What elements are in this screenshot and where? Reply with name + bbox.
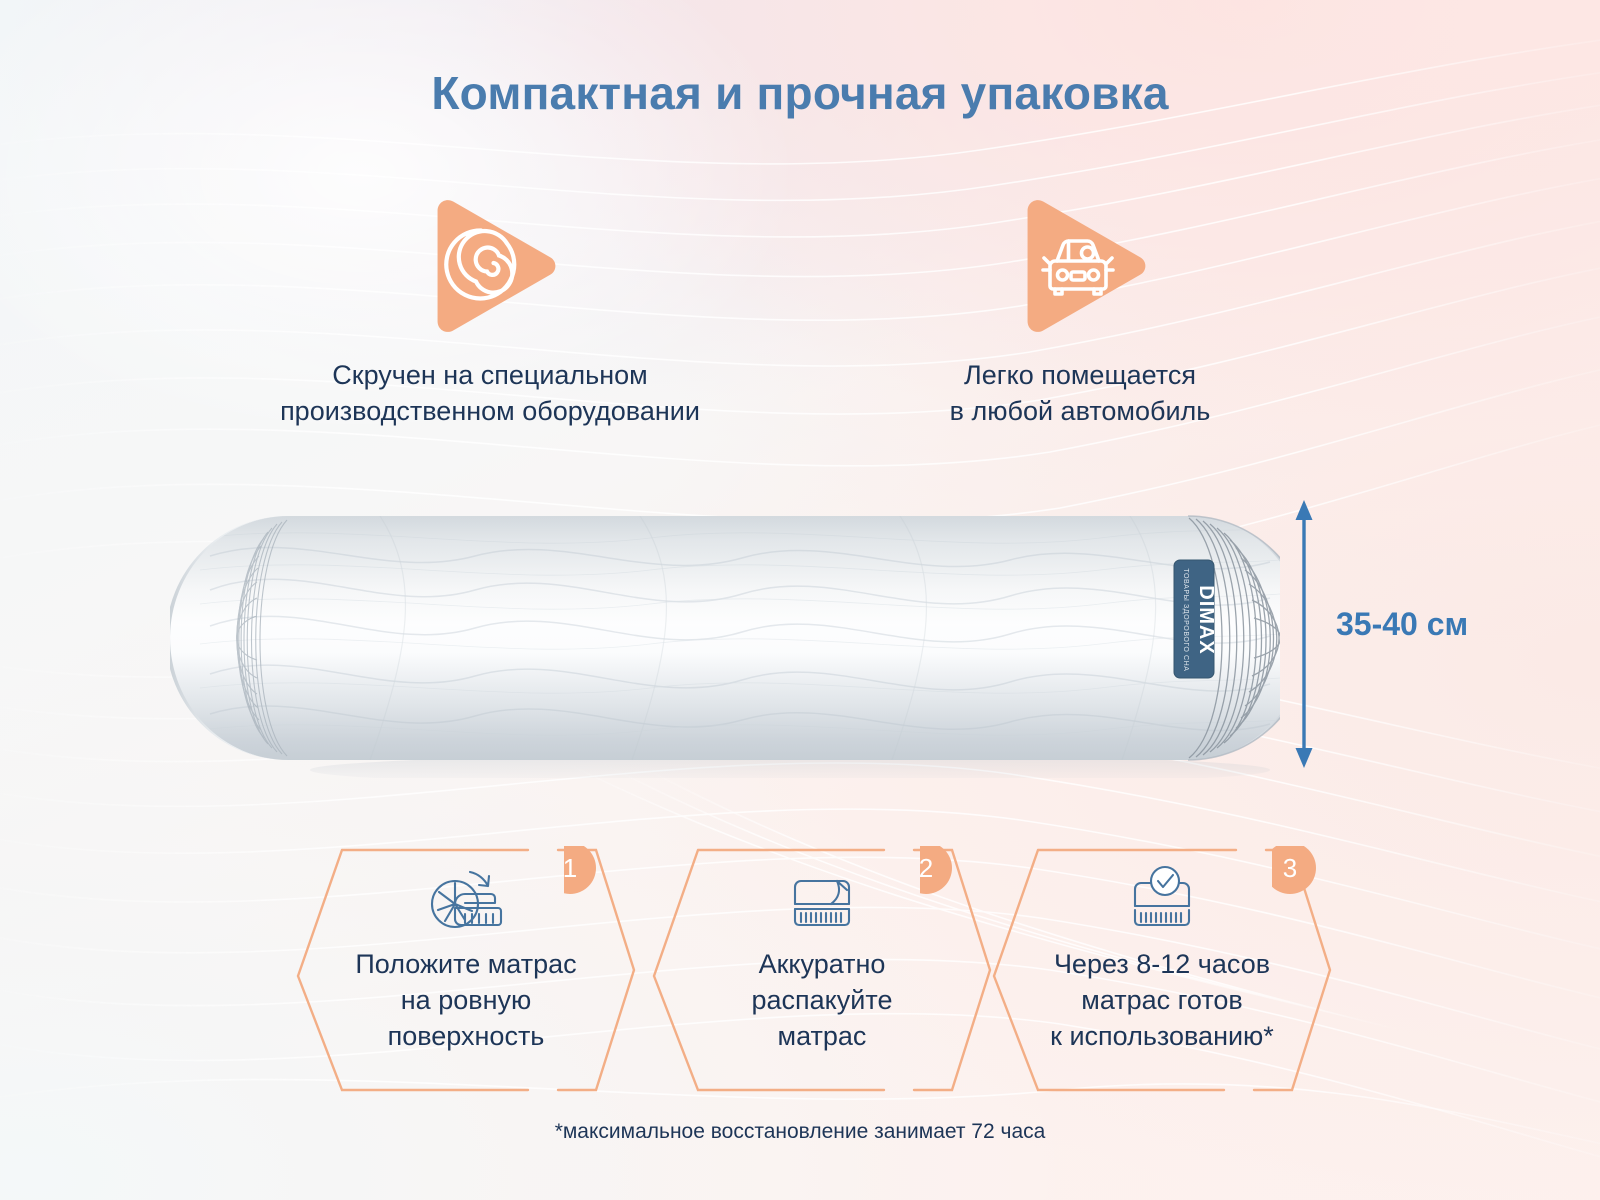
height-dimension: 35-40 см — [1288, 498, 1588, 770]
brand-tag-text: DIMAX — [1195, 585, 1217, 654]
page-title: Компактная и прочная упаковка — [0, 66, 1600, 120]
car-front-icon — [1005, 196, 1155, 336]
spiral-roll-icon — [415, 196, 565, 336]
feature-caption: Скручен на специальном производственном … — [205, 358, 775, 430]
step-3: 3 Через 8-12 часов матрас готов к исполь… — [992, 846, 1332, 1094]
brand-tag-subtext: ТОВАРЫ ЗДОРОВОГО СНА — [1182, 568, 1189, 671]
step-2: 2 Аккуратно распакуйте матрас — [652, 846, 992, 1094]
step-text: Через 8-12 часов матрас готов к использо… — [992, 946, 1332, 1055]
feature-fits-any-car: Легко помещается в любой автомобиль — [880, 196, 1280, 430]
mattress-check-icon — [992, 864, 1332, 936]
feature-rolled-on-equipment: Скручен на специальном производственном … — [205, 196, 775, 430]
mattress-unwrap-icon — [652, 864, 992, 936]
footnote: *максимальное восстановление занимает 72… — [0, 1120, 1600, 1144]
feature-caption: Легко помещается в любой автомобиль — [880, 358, 1280, 430]
dimension-label: 35-40 см — [1336, 606, 1468, 643]
double-arrow-icon — [1296, 500, 1313, 768]
step-text: Положите матрас на ровную поверхность — [296, 946, 636, 1055]
brand-tag: DIMAX ТОВАРЫ ЗДОРОВОГО СНА — [1174, 560, 1217, 678]
step-1: 1 Положите матрас на ровную поверхность — [296, 846, 636, 1094]
rolled-mattress: DIMAX ТОВАРЫ ЗДОРОВОГО СНА — [170, 498, 1280, 778]
steps-row: 1 Положите матрас на ровную поверхность — [296, 846, 1304, 1094]
step-text: Аккуратно распакуйте матрас — [652, 946, 992, 1055]
rolled-mattress-unroll-icon — [296, 864, 636, 936]
infographic-canvas: Компактная и прочная упаковка Скручен на… — [0, 0, 1600, 1200]
